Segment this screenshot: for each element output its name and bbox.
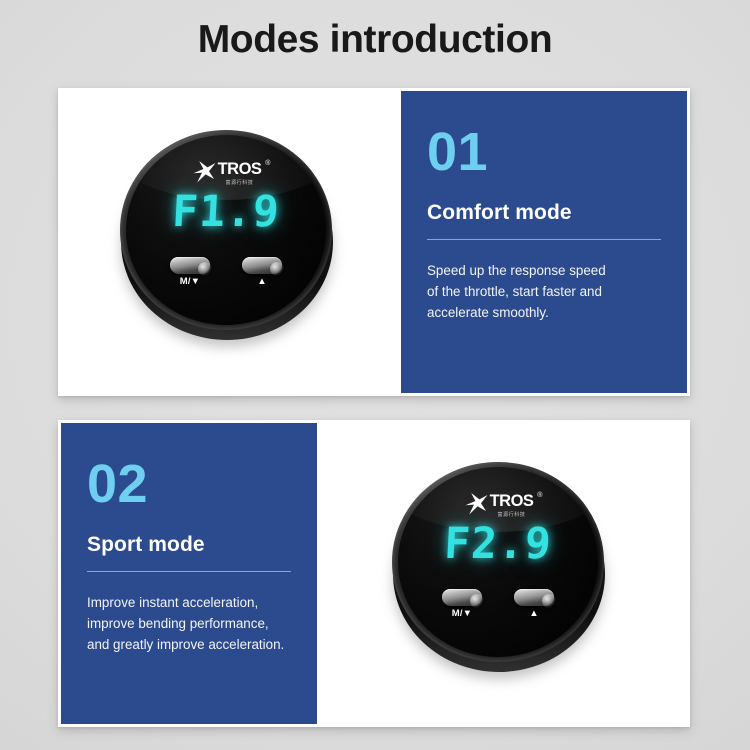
mode-title-sport: Sport mode (87, 533, 291, 557)
device-bezel: TROS ® 富源行科技 F2.9 M/▼ ▲ (392, 462, 604, 662)
up-button[interactable]: ▲ (512, 589, 556, 619)
brand-subtext: 富源行科技 (490, 511, 534, 518)
up-button-key[interactable] (514, 589, 554, 606)
description-line: and greatly improve acceleration. (87, 634, 291, 655)
registered-mark-icon: ® (265, 160, 270, 167)
mode-card-sport: 02 Sport mode Improve instant accelerati… (58, 420, 690, 727)
up-button-label: ▲ (240, 277, 284, 287)
mode-down-button-key[interactable] (170, 257, 210, 274)
brand-text-block: TROS ® 富源行科技 (218, 161, 262, 186)
brand-logo: TROS ® 富源行科技 (126, 161, 326, 186)
info-pane-sport: 02 Sport mode Improve instant accelerati… (58, 420, 320, 727)
up-button-label: ▲ (512, 609, 556, 619)
mode-down-button-label: M/▼ (168, 277, 212, 287)
device-button-row: M/▼ ▲ (126, 257, 326, 287)
info-pane-comfort: 01 Comfort mode Speed up the response sp… (398, 88, 690, 396)
brand-text-block: TROS ® 富源行科技 (490, 493, 534, 518)
brand-subtext: 富源行科技 (218, 179, 262, 186)
description-line: improve bending performance, (87, 613, 291, 634)
title-divider (427, 239, 661, 240)
mode-down-button-key[interactable] (442, 589, 482, 606)
star-icon (191, 160, 217, 184)
mode-down-button-label: M/▼ (440, 609, 484, 619)
mode-down-button[interactable]: M/▼ (440, 589, 484, 619)
brand-name: TROS (218, 161, 262, 178)
device-pane-comfort: TROS ® 富源行科技 F1.9 M/▼ ▲ (58, 88, 398, 396)
brand-logo: TROS ® 富源行科技 (398, 493, 598, 518)
mode-title-comfort: Comfort mode (427, 201, 661, 225)
device-bezel: TROS ® 富源行科技 F1.9 M/▼ ▲ (120, 130, 332, 330)
device-button-row: M/▼ ▲ (398, 589, 598, 619)
mode-description-comfort: Speed up the response speed of the throt… (427, 260, 661, 324)
brand-name: TROS (490, 493, 534, 510)
led-display-value: F1.9 (126, 187, 326, 237)
up-button-key[interactable] (242, 257, 282, 274)
mode-number-02: 02 (87, 457, 291, 511)
mode-description-sport: Improve instant acceleration, improve be… (87, 592, 291, 656)
star-icon (463, 492, 489, 516)
description-line: of the throttle, start faster and (427, 281, 661, 302)
throttle-controller-device-comfort: TROS ® 富源行科技 F1.9 M/▼ ▲ (120, 130, 334, 344)
description-line: Speed up the response speed (427, 260, 661, 281)
mode-down-button[interactable]: M/▼ (168, 257, 212, 287)
mode-number-01: 01 (427, 125, 661, 179)
page-title: Modes introduction (0, 18, 750, 62)
device-face: TROS ® 富源行科技 F1.9 M/▼ ▲ (126, 135, 326, 325)
title-divider (87, 571, 291, 572)
throttle-controller-device-sport: TROS ® 富源行科技 F2.9 M/▼ ▲ (392, 462, 606, 676)
description-line: Improve instant acceleration, (87, 592, 291, 613)
description-line: accelerate smoothly. (427, 302, 661, 323)
registered-mark-icon: ® (537, 492, 542, 499)
device-face: TROS ® 富源行科技 F2.9 M/▼ ▲ (398, 467, 598, 657)
led-display-value: F2.9 (398, 519, 598, 569)
up-button[interactable]: ▲ (240, 257, 284, 287)
device-pane-sport: TROS ® 富源行科技 F2.9 M/▼ ▲ (320, 420, 690, 727)
mode-card-comfort: TROS ® 富源行科技 F1.9 M/▼ ▲ (58, 88, 690, 396)
